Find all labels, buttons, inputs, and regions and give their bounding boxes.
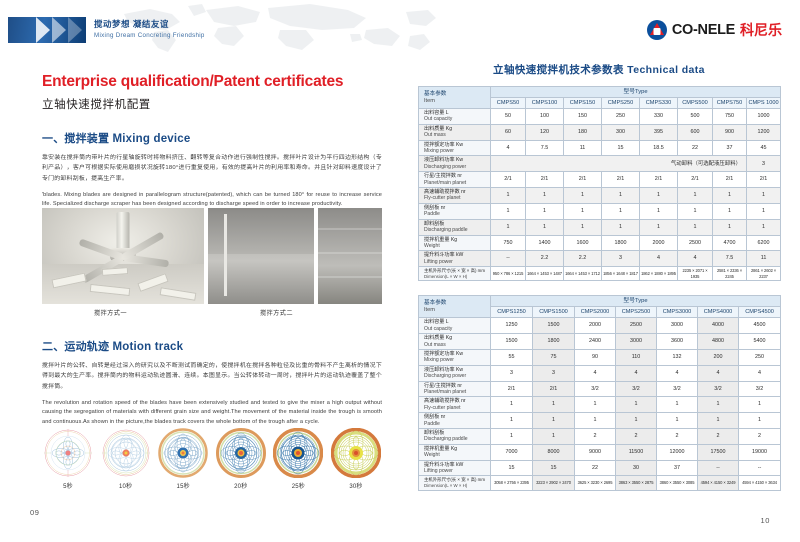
- motion-track-graphic-30s: [331, 428, 381, 478]
- cell: 4: [678, 251, 713, 267]
- cell: 1: [491, 203, 526, 219]
- cell: 300: [602, 124, 640, 140]
- row-label-mixing-power: 搅拌额定功率 Kw Mixing power: [419, 349, 491, 365]
- company-flag-logo: [8, 17, 86, 43]
- cell: 37: [657, 460, 698, 476]
- row-label-discharging-paddle: 卸料刮板 Discharging paddle: [419, 429, 491, 445]
- model-cell: CMPS 1000: [747, 98, 781, 109]
- table-row: 提升料斗功率 kW Lifting power -- 2.2 2.2 3 4 4…: [419, 251, 781, 267]
- cell: 1: [602, 219, 640, 235]
- technical-data-table-2-wrapper: 基本参数 Item 型号Type CMPS1250 CMPS1500 CMPS2…: [418, 295, 780, 490]
- cell: 1: [678, 219, 713, 235]
- chevron-right-icon: [68, 17, 82, 43]
- cell: 2235 × 2071 × 1935: [678, 267, 713, 281]
- cell: 1: [616, 397, 657, 413]
- row-label-lifting-power: 提升料斗功率 kW Lifting power: [419, 251, 491, 267]
- cell: 3000: [657, 318, 698, 334]
- table-row: 搅拌额定功率 Kw Mixing power 55 75 90 110 132 …: [419, 349, 781, 365]
- table-row: 提升料斗功率 kW Lifting power 15 15 22 30 37 -…: [419, 460, 781, 476]
- page-title-chinese: 立轴快速搅拌机配置: [42, 96, 382, 112]
- cell: 3/2: [739, 381, 781, 397]
- section2-block: 二、运动轨迹 Motion track 搅拌叶片的公转、自转是经过深入的研究以及…: [42, 338, 382, 427]
- folio-right: 10: [760, 516, 770, 525]
- cell: 3/2: [657, 381, 698, 397]
- section1-heading-en: Mixing device: [112, 133, 190, 145]
- row-label-out-capacity: 出料容量 L Out capacity: [419, 318, 491, 334]
- cell: 12000: [657, 444, 698, 460]
- page-title-english: Enterprise qualification/Patent certific…: [42, 72, 382, 91]
- cell: 1: [747, 219, 781, 235]
- table-row: 行星/主搅拌数 nr Planet/main planet 2/1 2/1 3/…: [419, 381, 781, 397]
- cell: 2: [616, 429, 657, 445]
- model-cell: CMPS4500: [739, 307, 781, 318]
- cell: 2: [657, 429, 698, 445]
- cell: 2: [698, 429, 739, 445]
- brand-name-latin: CO-NELE: [672, 22, 735, 38]
- motion-track-item: 10秒: [100, 428, 152, 490]
- cell: 1: [491, 188, 526, 204]
- right-content-column: 立轴快速搅拌机技术参数表 Technical data 基本参数 Item 型号…: [418, 62, 780, 491]
- cell: 5400: [739, 334, 781, 350]
- cell: 19000: [739, 444, 781, 460]
- cell: 2/1: [491, 172, 526, 188]
- cell: 3: [602, 251, 640, 267]
- section1-paragraph-chinese: 靠安装在搅拌筒内带叶片的行星轴旋转时将物料挤压、翻转等复合动作进行强制性搅拌。搅…: [42, 153, 382, 184]
- slogan-chinese: 搅动梦想 凝结友谊: [94, 19, 205, 30]
- cell: 7000: [491, 444, 533, 460]
- photo-mixer-interior: [42, 208, 204, 304]
- row-label-mixing-power: 搅拌额定功率 Kw Mixing power: [419, 140, 491, 156]
- model-cell: CMPS2500: [616, 307, 657, 318]
- cell: 8000: [533, 444, 575, 460]
- cell: 30: [616, 460, 657, 476]
- cell: 1: [533, 429, 575, 445]
- motion-track-label: 15秒: [157, 481, 209, 490]
- cell: 1664 × 1453 × 1487: [526, 267, 564, 281]
- cell: 3/2: [616, 381, 657, 397]
- cell: 1: [657, 397, 698, 413]
- table-header-row: 基本参数 Item 型号Type: [419, 87, 781, 98]
- table-row: 搅拌机重量 Kg Weight 7000 8000 9000 11500 120…: [419, 444, 781, 460]
- cell: 15: [533, 460, 575, 476]
- cell: 2000: [640, 235, 678, 251]
- conele-logo-icon: [647, 20, 667, 40]
- table-row: 出料质量 Kg Out mass 1500 1800 2400 3000 360…: [419, 334, 781, 350]
- cell: 180: [564, 124, 602, 140]
- cell: 1: [602, 188, 640, 204]
- cell: 1800: [533, 334, 575, 350]
- cell: 3058 × 2756 × 2395: [491, 476, 533, 490]
- cell: 2/1: [602, 172, 640, 188]
- cell: 2.2: [564, 251, 602, 267]
- cell: 1: [533, 413, 575, 429]
- cell: 4: [739, 365, 781, 381]
- row-label-weight: 搅拌机重量 Kg Weight: [419, 444, 491, 460]
- photo-streak: [318, 276, 382, 278]
- cell-discharging-power-note: 气动卸料（可选配液压卸料）: [491, 156, 747, 172]
- technical-data-title: 立轴快速搅拌机技术参数表 Technical data: [418, 62, 780, 77]
- cell: 1400: [526, 235, 564, 251]
- cell: 2/1: [564, 172, 602, 188]
- motion-track-item: 5秒: [42, 428, 94, 490]
- row-label-planet-main: 行星/主搅拌数 nr Planet/main planet: [419, 172, 491, 188]
- row-label-discharging-power: 液压卸料功率 Kw Discharging power: [419, 156, 491, 172]
- cell: 1200: [747, 124, 781, 140]
- table-row: 搅拌机重量 Kg Weight 750 1400 1600 1800 2000 …: [419, 235, 781, 251]
- cell: 1: [491, 397, 533, 413]
- photo-mixer-detail: [318, 208, 382, 304]
- cell: 11500: [616, 444, 657, 460]
- motion-track-graphic-10s: [101, 428, 151, 478]
- cell: 4: [616, 365, 657, 381]
- motion-track-item: 25秒: [272, 428, 324, 490]
- cell: 1: [713, 219, 747, 235]
- row-label-dimension: 主机外形尺寸(长 × 宽 × 高) mm Dimension(L × W × H…: [419, 267, 491, 281]
- cell: 2000: [575, 318, 616, 334]
- cell: 3223 × 2902 × 2470: [533, 476, 575, 490]
- cell: 2/1: [491, 381, 533, 397]
- cell: 2/1: [533, 381, 575, 397]
- section1-paragraph-english: 'blades. Mixing blades are designed in p…: [42, 191, 382, 209]
- row-label-paddle: 侧刮板 nr Paddle: [419, 413, 491, 429]
- motion-track-graphic-15s: [158, 428, 208, 478]
- motion-track-label: 20秒: [215, 481, 267, 490]
- section2-paragraph-english: The revolution and rotation speed of the…: [42, 399, 382, 427]
- cell: 3: [491, 365, 533, 381]
- cell: 4594 × 4150 × 3634: [739, 476, 781, 490]
- cell: 75: [533, 349, 575, 365]
- cell: 1: [640, 203, 678, 219]
- cell: 4594 × 4150 × 3249: [698, 476, 739, 490]
- chevron-right-icon: [52, 17, 66, 43]
- row-label-paddle: 侧刮板 nr Paddle: [419, 203, 491, 219]
- section2-heading-cn: 二、运动轨迹: [42, 341, 109, 353]
- cell: 2/1: [678, 172, 713, 188]
- motion-track-diagrams: 5秒: [42, 428, 382, 510]
- cell: 1: [491, 413, 533, 429]
- model-cell: CMPS3000: [657, 307, 698, 318]
- cell: 120: [526, 124, 564, 140]
- cell: 900: [713, 124, 747, 140]
- page-header: 搅动梦想 凝结友谊 Mixing Dream Concreting Friend…: [0, 0, 800, 58]
- cell: 1856 × 1648 × 1817: [602, 267, 640, 281]
- table-row: 高速辅助搅拌数 nr Fly-cutter planet 1 1 1 1 1 1…: [419, 397, 781, 413]
- cell: 3/2: [575, 381, 616, 397]
- cell: 1: [640, 188, 678, 204]
- cell: 7.5: [526, 140, 564, 156]
- cell: 4: [640, 251, 678, 267]
- header-item-cn: 基本参数: [424, 91, 490, 98]
- cell: 2/1: [640, 172, 678, 188]
- left-content-column: Enterprise qualification/Patent certific…: [42, 72, 382, 210]
- row-label-weight: 搅拌机重量 Kg Weight: [419, 235, 491, 251]
- motion-track-graphic-25s: [273, 428, 323, 478]
- technical-data-table-2: 基本参数 Item 型号Type CMPS1250 CMPS1500 CMPS2…: [418, 295, 781, 490]
- model-cell: CMPS250: [602, 98, 640, 109]
- cell: 1: [564, 219, 602, 235]
- model-cell: CMPS150: [564, 98, 602, 109]
- cell: 1: [657, 413, 698, 429]
- cell: 2861 × 2602 × 2237: [747, 267, 781, 281]
- cell: 1: [526, 219, 564, 235]
- model-cell: CMPS750: [713, 98, 747, 109]
- table-row: 出料容量 L Out capacity 50 100 150 250 330 5…: [419, 109, 781, 125]
- cell: 1: [713, 203, 747, 219]
- model-cell: CMPS2000: [575, 307, 616, 318]
- cell: 45: [747, 140, 781, 156]
- section2-paragraph-chinese: 搅拌叶片的公转、自转是经过深入的研究以及不断测试而确定的，使搅拌机在搅拌各种粒径…: [42, 361, 382, 392]
- cell: 1600: [564, 235, 602, 251]
- cell: 1250: [491, 318, 533, 334]
- motion-track-label: 25秒: [272, 481, 324, 490]
- cell: 1: [526, 188, 564, 204]
- model-cell: CMPS500: [678, 98, 713, 109]
- photo-post: [224, 214, 227, 296]
- row-label-dimension: 主机外形尺寸(长 × 宽 × 高) mm Dimension(L × W × H…: [419, 476, 491, 490]
- row-label-out-capacity: 出料容量 L Out capacity: [419, 109, 491, 125]
- slogan-english: Mixing Dream Concreting Friendship: [94, 31, 205, 40]
- cell: 110: [616, 349, 657, 365]
- cell: 1: [698, 413, 739, 429]
- table-row: 行星/主搅拌数 nr Planet/main planet 2/1 2/1 2/…: [419, 172, 781, 188]
- section1-heading-cn: 一、搅拌装置: [42, 133, 109, 145]
- folio-left: 09: [30, 508, 40, 517]
- row-label-planet-main: 行星/主搅拌数 nr Planet/main planet: [419, 381, 491, 397]
- cell: 4: [698, 365, 739, 381]
- table-header-type: 型号Type: [491, 296, 781, 307]
- cell: 3863 × 3550 × 2875: [616, 476, 657, 490]
- cell: 11: [564, 140, 602, 156]
- cell: 50: [491, 109, 526, 125]
- cell: 1500: [533, 318, 575, 334]
- cell: 1: [575, 397, 616, 413]
- cell: 2: [575, 429, 616, 445]
- brand-lockup: CO-NELE 科尼乐: [647, 20, 782, 40]
- header-item-en: Item: [424, 98, 490, 105]
- motion-track-item: 20秒: [215, 428, 267, 490]
- cell: 6200: [747, 235, 781, 251]
- cell: 4: [657, 365, 698, 381]
- cell: 1: [747, 203, 781, 219]
- model-cell: CMPS50: [491, 98, 526, 109]
- cell: 60: [491, 124, 526, 140]
- cell: 17500: [698, 444, 739, 460]
- cell: 1: [564, 188, 602, 204]
- cell: 18.5: [640, 140, 678, 156]
- cell: 37: [713, 140, 747, 156]
- cell: 395: [640, 124, 678, 140]
- cell: 2/1: [747, 172, 781, 188]
- cell: 90: [575, 349, 616, 365]
- cell: 4: [491, 140, 526, 156]
- model-cell: CMPS4000: [698, 307, 739, 318]
- table-row: 卸料刮板 Discharging paddle 1 1 1 1 1 1 1 1: [419, 219, 781, 235]
- cell: 1: [564, 203, 602, 219]
- photo-mixer-shaft: [117, 212, 130, 252]
- model-cell: CMPS100: [526, 98, 564, 109]
- row-label-lifting-power: 提升料斗功率 kW Lifting power: [419, 460, 491, 476]
- motion-track-label: 30秒: [330, 481, 382, 490]
- table-row: 液压卸料功率 Kw Discharging power 气动卸料（可选配液压卸料…: [419, 156, 781, 172]
- cell: 22: [575, 460, 616, 476]
- motion-track-graphic-5s: [43, 428, 93, 478]
- cell: 1: [640, 219, 678, 235]
- cell: 2: [739, 429, 781, 445]
- cell: 2/1: [713, 172, 747, 188]
- cell: 3000: [616, 334, 657, 350]
- cell: 2.2: [526, 251, 564, 267]
- cell: --: [491, 251, 526, 267]
- model-cell: CMPS330: [640, 98, 678, 109]
- cell: 200: [698, 349, 739, 365]
- cell: 15: [491, 460, 533, 476]
- cell: 9000: [575, 444, 616, 460]
- cell: 4800: [698, 334, 739, 350]
- cell: 4000: [698, 318, 739, 334]
- table-row: 主机外形尺寸(长 × 宽 × 高) mm Dimension(L × W × H…: [419, 476, 781, 490]
- cell: 100: [526, 109, 564, 125]
- section2-heading: 二、运动轨迹 Motion track: [42, 338, 382, 354]
- table-row: 搅拌额定功率 Kw Mixing power 4 7.5 11 15 18.5 …: [419, 140, 781, 156]
- table-row: 液压卸料功率 Kw Discharging power 3 3 4 4 4 4 …: [419, 365, 781, 381]
- section2-heading-en: Motion track: [112, 341, 183, 353]
- cell: 1800: [602, 235, 640, 251]
- cell: 3/2: [698, 381, 739, 397]
- cell: 250: [739, 349, 781, 365]
- cell: 750: [491, 235, 526, 251]
- table-row: 侧刮板 nr Paddle 1 1 1 1 1 1 1 1: [419, 203, 781, 219]
- cell: 7.5: [713, 251, 747, 267]
- motion-track-label: 5秒: [42, 481, 94, 490]
- motion-track-item: 30秒: [330, 428, 382, 490]
- cell: 330: [640, 109, 678, 125]
- motion-track-label: 10秒: [100, 481, 152, 490]
- cell: 4700: [713, 235, 747, 251]
- cell: 4: [575, 365, 616, 381]
- table-header-row: 基本参数 Item 型号Type: [419, 296, 781, 307]
- row-label-fly-cutter: 高速辅助搅拌数 nr Fly-cutter planet: [419, 397, 491, 413]
- cell: 22: [678, 140, 713, 156]
- row-label-fly-cutter: 高速辅助搅拌数 nr Fly-cutter planet: [419, 188, 491, 204]
- cell: --: [698, 460, 739, 476]
- photo-streak: [318, 228, 382, 230]
- cell: 3: [533, 365, 575, 381]
- photo-mixer-trough: [208, 208, 314, 304]
- table-row: 出料容量 L Out capacity 1250 1500 2000 2500 …: [419, 318, 781, 334]
- cell: 1500: [491, 334, 533, 350]
- cell: 1664 × 1453 × 1712: [564, 267, 602, 281]
- row-label-out-mass: 出料质量 Kg Out mass: [419, 334, 491, 350]
- cell: 2581 × 2336 × 2245: [713, 267, 747, 281]
- table-row: 卸料刮板 Discharging paddle 1 1 2 2 2 2 2: [419, 429, 781, 445]
- cell: 3: [747, 156, 781, 172]
- cell: 250: [602, 109, 640, 125]
- cell: 500: [678, 109, 713, 125]
- table-header-item: 基本参数 Item: [419, 296, 491, 318]
- cell: 1: [739, 413, 781, 429]
- cell: 3625 × 3230 × 2695: [575, 476, 616, 490]
- table-header-type: 型号Type: [491, 87, 781, 98]
- photo-caption-2: 搅拌方式二: [260, 308, 293, 317]
- cell: 950 × 786 × 1215: [491, 267, 526, 281]
- row-label-discharging-paddle: 卸料刮板 Discharging paddle: [419, 219, 491, 235]
- cell: 1: [616, 413, 657, 429]
- cell: 750: [713, 109, 747, 125]
- slogan-block: 搅动梦想 凝结友谊 Mixing Dream Concreting Friend…: [94, 19, 205, 40]
- photo-streak: [318, 252, 382, 254]
- row-label-out-mass: 出料质量 Kg Out mass: [419, 124, 491, 140]
- cell: 1: [491, 219, 526, 235]
- cell: 2/1: [526, 172, 564, 188]
- cell: 1: [739, 397, 781, 413]
- header-item-cn: 基本参数: [424, 300, 490, 307]
- model-cell: CMPS1500: [533, 307, 575, 318]
- motion-track-item: 15秒: [157, 428, 209, 490]
- photo-captions: 搅拌方式一 搅拌方式二: [42, 308, 382, 322]
- cell: 3600: [657, 334, 698, 350]
- cell: 1: [713, 188, 747, 204]
- cell: 1: [678, 203, 713, 219]
- table-header-item: 基本参数 Item: [419, 87, 491, 109]
- table-row: 出料质量 Kg Out mass 60 120 180 300 395 600 …: [419, 124, 781, 140]
- cell: 1: [678, 188, 713, 204]
- section1-heading: 一、搅拌装置 Mixing device: [42, 130, 382, 146]
- header-item-en: Item: [424, 307, 490, 314]
- cell: --: [739, 460, 781, 476]
- table-row: 侧刮板 nr Paddle 1 1 1 1 1 1 1: [419, 413, 781, 429]
- photo-caption-1: 搅拌方式一: [94, 308, 127, 317]
- table-row: 主机外形尺寸(长 × 宽 × 高) mm Dimension(L × W × H…: [419, 267, 781, 281]
- cell: 1: [491, 429, 533, 445]
- photo-gallery: [42, 208, 382, 304]
- cell: 132: [657, 349, 698, 365]
- cell: 1: [747, 188, 781, 204]
- cell: 3860 × 3550 × 3085: [657, 476, 698, 490]
- technical-data-table-1: 基本参数 Item 型号Type CMPS50 CMPS100 CMPS150 …: [418, 86, 781, 281]
- cell: 1: [602, 203, 640, 219]
- row-label-discharging-power: 液压卸料功率 Kw Discharging power: [419, 365, 491, 381]
- cell: 4500: [739, 318, 781, 334]
- cell: 1: [575, 413, 616, 429]
- motion-track-graphic-20s: [216, 428, 266, 478]
- cell: 2400: [575, 334, 616, 350]
- cell: 55: [491, 349, 533, 365]
- cell: 1000: [747, 109, 781, 125]
- chevron-right-icon: [36, 17, 50, 43]
- cell: 2500: [616, 318, 657, 334]
- cell: 1862 × 1880 × 1895: [640, 267, 678, 281]
- cell: 11: [747, 251, 781, 267]
- cell: 2500: [678, 235, 713, 251]
- cell: 1: [698, 397, 739, 413]
- cell: 1: [533, 397, 575, 413]
- cell: 150: [564, 109, 602, 125]
- cell: 15: [602, 140, 640, 156]
- model-cell: CMPS1250: [491, 307, 533, 318]
- cell: 600: [678, 124, 713, 140]
- brand-name-chinese: 科尼乐: [740, 20, 782, 40]
- cell: 1: [526, 203, 564, 219]
- table-row: 高速辅助搅拌数 nr Fly-cutter planet 1 1 1 1 1 1…: [419, 188, 781, 204]
